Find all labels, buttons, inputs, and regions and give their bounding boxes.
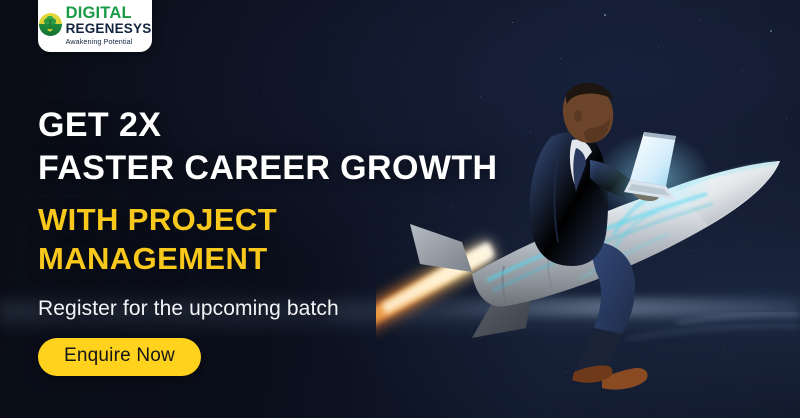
laptop-keyboard: [628, 184, 670, 196]
person-beard: [584, 118, 610, 142]
rocket-neon-accents: [488, 163, 776, 290]
headline-highlight-line-1: WITH PROJECT: [38, 200, 518, 239]
speed-streaks: [626, 313, 800, 340]
enquire-now-button[interactable]: Enquire Now: [38, 338, 201, 376]
promo-banner: DIGITAL REGENESYS Awakening Potential GE…: [0, 0, 800, 418]
tree-circle-icon: [39, 13, 62, 36]
person-shin: [574, 328, 622, 378]
person-thigh: [588, 242, 635, 334]
logo-tagline: Awakening Potential: [66, 38, 152, 45]
person-jacket: [530, 132, 608, 266]
headline-line-1: GET 2X: [38, 104, 518, 147]
subtitle-text: Register for the upcoming batch: [38, 296, 518, 322]
logo-line-digital: DIGITAL: [66, 5, 152, 22]
person-shoe: [602, 368, 648, 390]
headline-highlight-line-2: MANAGEMENT: [38, 239, 518, 278]
banner-copy: GET 2X FASTER CAREER GROWTH WITH PROJECT…: [38, 104, 518, 376]
rocket-body: [472, 161, 780, 306]
person-ear: [574, 110, 582, 122]
rocket-nose: [676, 161, 780, 225]
person-tie: [573, 148, 586, 192]
headline-line-2: FASTER CAREER GROWTH: [38, 147, 518, 190]
person-hair: [566, 83, 614, 104]
laptop-base: [624, 180, 676, 200]
person-head: [563, 86, 613, 143]
person-shirt: [570, 140, 592, 189]
brand-logo[interactable]: DIGITAL REGENESYS Awakening Potential: [38, 0, 152, 52]
person-shoe-back: [572, 365, 613, 382]
laptop-glow: [596, 132, 712, 224]
person-arm: [590, 160, 639, 200]
laptop-screen: [630, 132, 676, 186]
person-hand: [630, 187, 660, 201]
logo-line-regenesys: REGENESYS: [66, 22, 152, 36]
